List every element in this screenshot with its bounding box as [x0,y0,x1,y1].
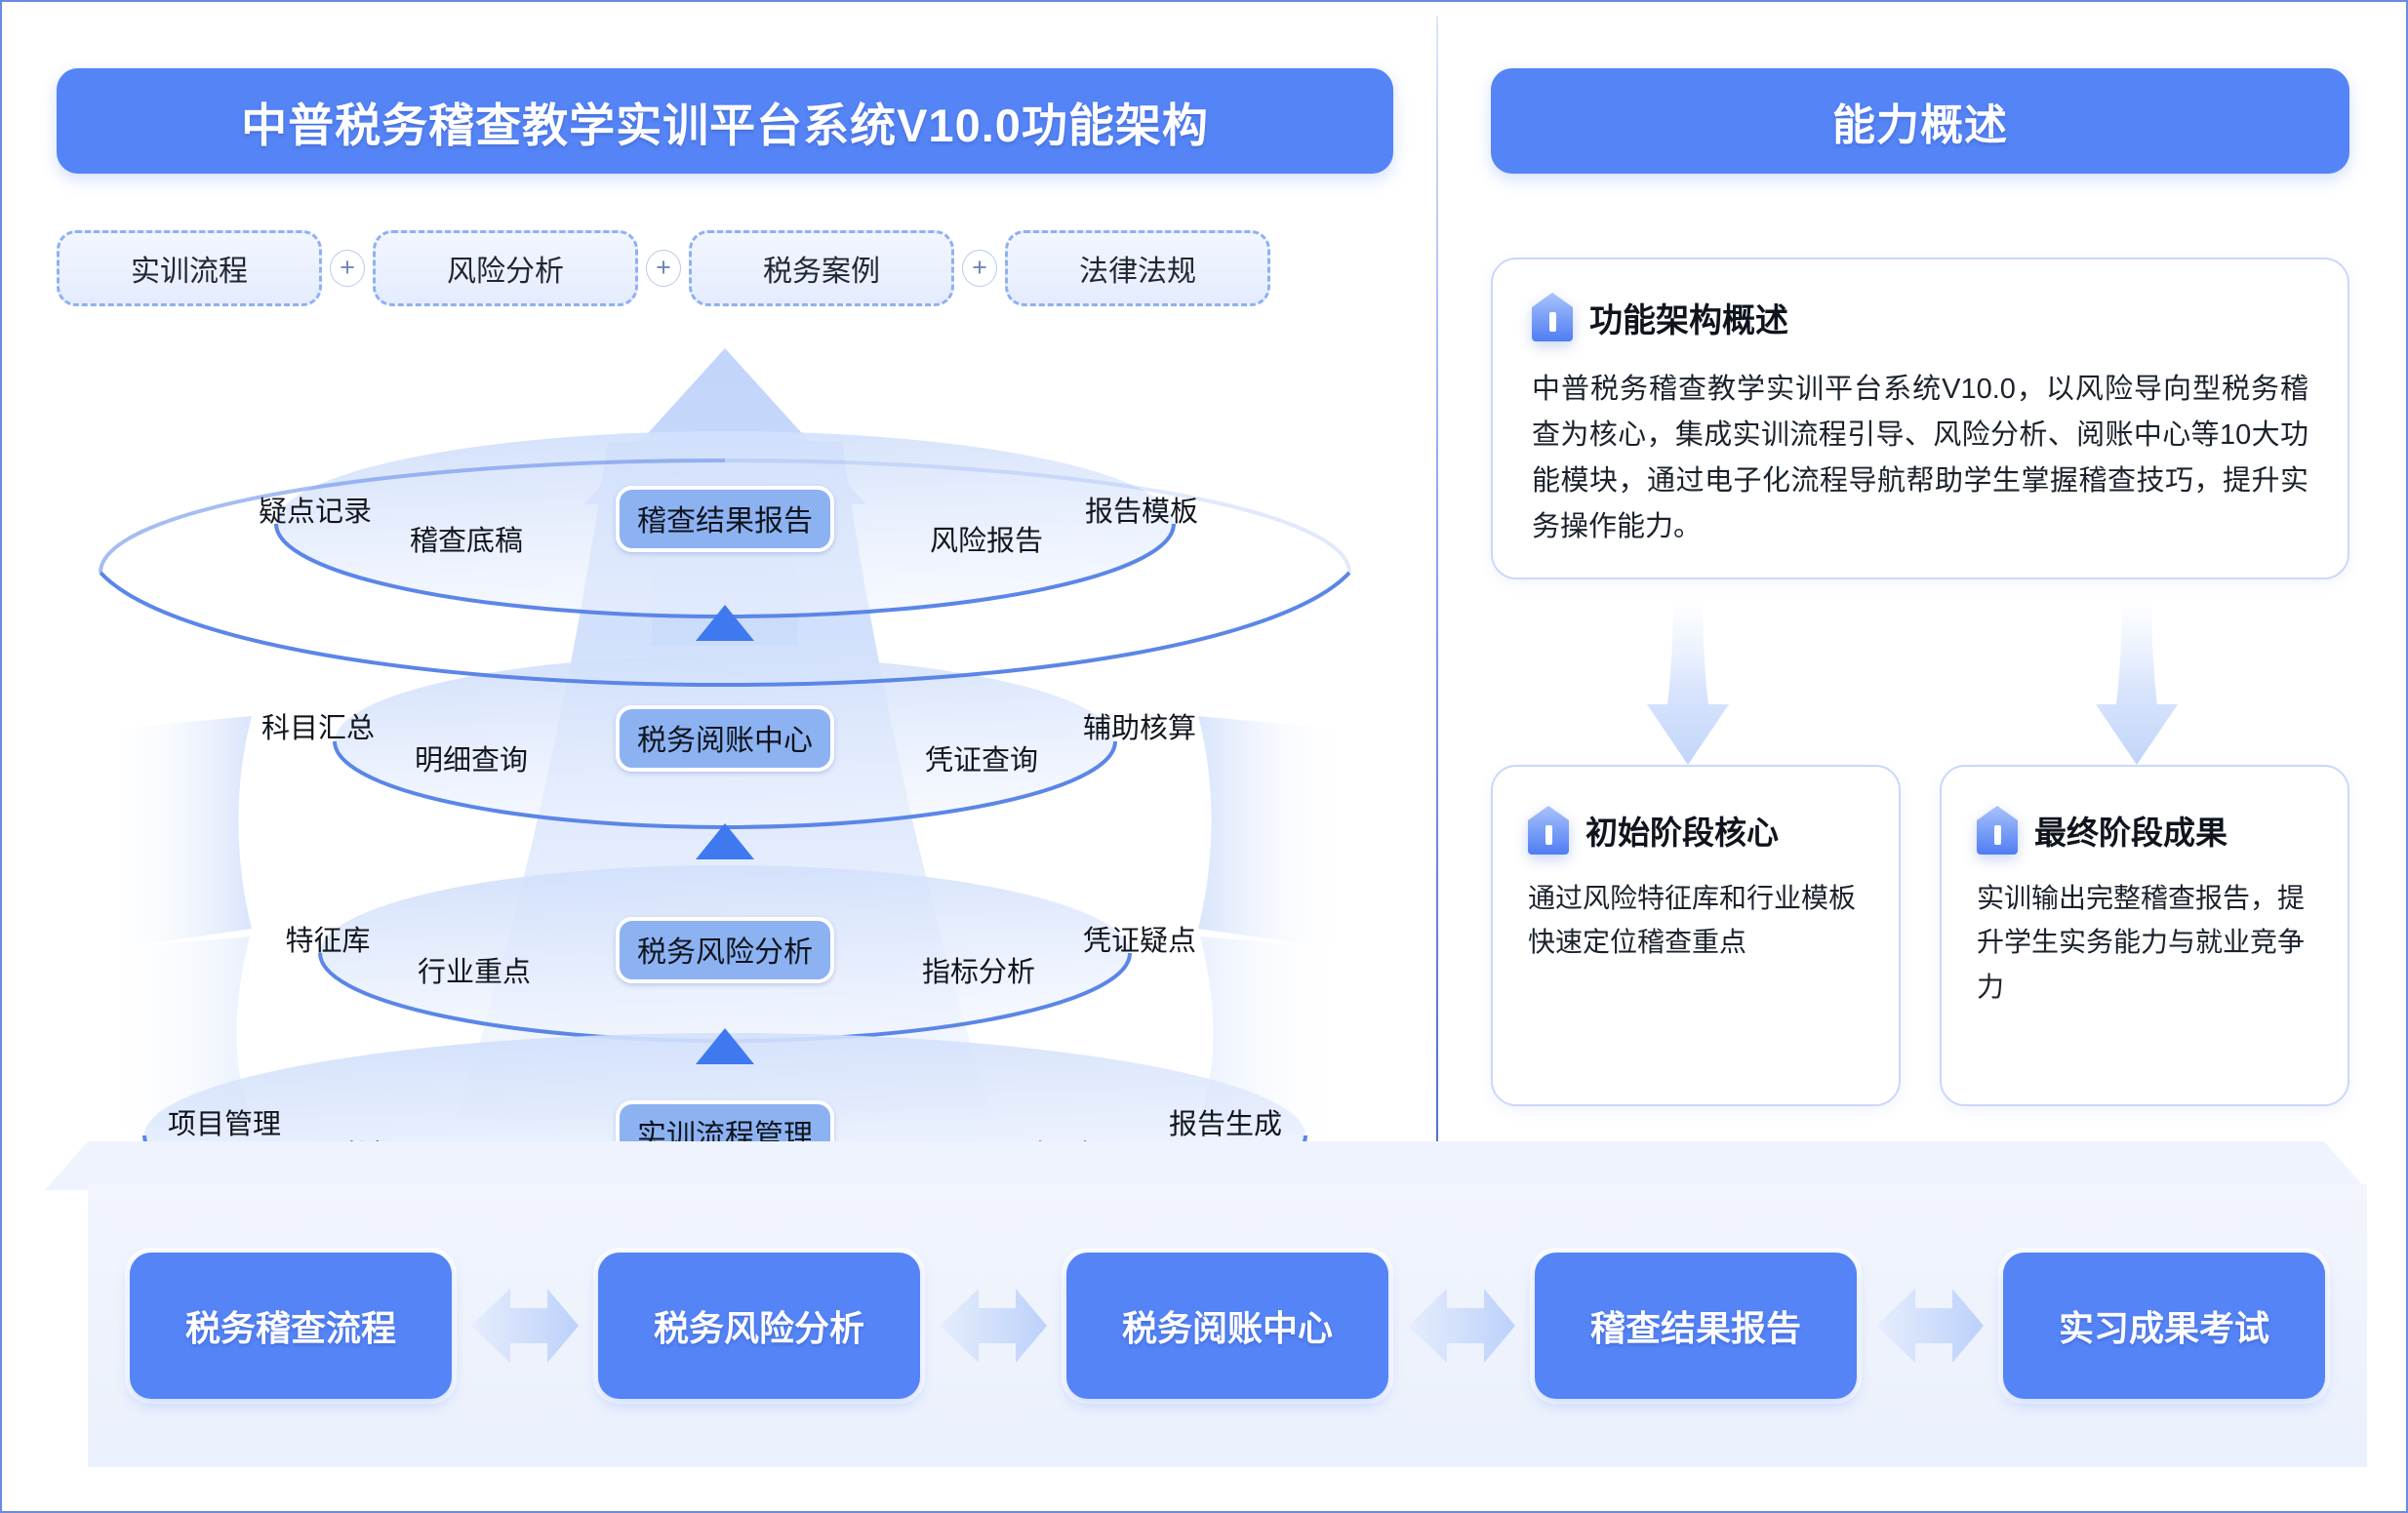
funnel-label-3-left-outer: 项目管理 [168,1101,281,1142]
funnel-core-1[interactable]: 税务阅账中心 [616,705,834,772]
funnel-label-2-left-outer: 特征库 [285,918,370,959]
funnel-label-1-left-inner: 明细查询 [415,737,528,778]
stage-card-1-body: 实训输出完整稽查报告，提升学生实务能力与就业竞争力 [1942,855,2348,1009]
tag-item-1[interactable]: 风险分析 [373,230,638,306]
tag-item-0[interactable]: 实训流程 [57,230,322,306]
tag-row: 实训流程 + 风险分析 + 税务案例 + 法律法规 [57,224,1393,312]
funnel-label-2-right-outer: 凭证疑点 [1083,918,1196,959]
stage-card-0: 初始阶段核心 通过风险特征库和行业模板快速定位稽查重点 [1491,765,1901,1106]
flow-section: 税务稽查流程 税务风险分析 [45,1141,2367,1483]
flow-step-2[interactable]: 税务阅账中心 [1066,1253,1388,1399]
funnel-label-3-right-outer: 报告生成 [1169,1101,1282,1142]
right-panel-title: 能力概述 [1491,68,2349,174]
house-info-icon [1528,806,1569,855]
funnel-label-0-left-outer: 疑点记录 [259,489,372,530]
stage-card-1-title: 最终阶段成果 [2034,807,2227,854]
funnel-label-1-left-outer: 科目汇总 [261,705,375,746]
tag-item-2[interactable]: 税务案例 [689,230,954,306]
plus-separator-0: + [322,230,373,306]
plus-separator-1: + [638,230,689,306]
funnel-label-1-right-outer: 辅助核算 [1083,705,1196,746]
flow-arrow-1 [920,1272,1066,1379]
flow-panel-bevel [45,1141,2367,1190]
funnel-label-2-right-inner: 指标分析 [922,949,1035,990]
funnel-label-2-left-inner: 行业重点 [418,949,531,990]
down-arrow-left [1647,599,1729,765]
overview-card-body: 中普税务稽查教学实训平台系统V10.0，以风险导向型税务稽查为核心，集成实训流程… [1493,341,2348,550]
tag-label: 税务案例 [763,247,880,290]
flow-arrow-3 [1857,1272,2003,1379]
infographic-page: 中普税务稽查教学实训平台系统V10.0功能架构 实训流程 + 风险分析 + 税务… [0,0,2408,1513]
funnel-core-2[interactable]: 税务风险分析 [616,917,834,983]
flow-arrow-0 [452,1272,598,1379]
stage-card-0-body: 通过风险特征库和行业模板快速定位稽查重点 [1493,855,1899,965]
overview-card: 功能架构概述 中普税务稽查教学实训平台系统V10.0，以风险导向型税务稽查为核心… [1491,258,2349,579]
flow-step-label: 实习成果考试 [2059,1300,2269,1351]
plus-glyph: + [330,250,365,287]
flow-step-label: 稽查结果报告 [1590,1300,1801,1351]
panel-divider [1436,16,1438,1147]
tag-label: 风险分析 [447,247,564,290]
house-info-icon [1532,293,1573,341]
house-info-icon [1977,806,2018,855]
funnel-label-0-left-inner: 稽查底稿 [410,518,523,559]
flow-step-4[interactable]: 实习成果考试 [2003,1253,2325,1399]
overview-card-title: 功能架构概述 [1589,294,1788,341]
funnel-diagram: 疑点记录 稽查底稿 稽查结果报告 风险报告 报告模板 科目汇总 明细查询 税务阅… [57,324,1393,1148]
flow-step-0[interactable]: 税务稽查流程 [130,1253,452,1399]
plus-glyph: + [962,250,997,287]
funnel-label-0-right-inner: 风险报告 [930,518,1043,559]
flow-step-label: 税务风险分析 [654,1300,864,1351]
left-panel-title: 中普税务稽查教学实训平台系统V10.0功能架构 [57,68,1393,174]
flow-step-label: 税务稽查流程 [185,1300,396,1351]
stage-card-0-header: 初始阶段核心 [1493,767,1899,855]
flow-arrow-2 [1388,1272,1535,1379]
flow-step-3[interactable]: 稽查结果报告 [1535,1253,1857,1399]
plus-separator-2: + [954,230,1005,306]
funnel-label-0-right-outer: 报告模板 [1085,489,1198,530]
funnel-label-1-right-inner: 凭证查询 [925,737,1038,778]
overview-card-header: 功能架构概述 [1493,259,2348,341]
stage-card-1: 最终阶段成果 实训输出完整稽查报告，提升学生实务能力与就业竞争力 [1940,765,2349,1106]
plus-glyph: + [646,250,681,287]
tag-label: 实训流程 [131,247,248,290]
funnel-core-0[interactable]: 稽查结果报告 [616,486,834,552]
flow-panel: 税务稽查流程 税务风险分析 [88,1184,2367,1467]
flow-step-label: 税务阅账中心 [1122,1300,1333,1351]
down-arrow-right [2096,599,2178,765]
stage-card-1-header: 最终阶段成果 [1942,767,2348,855]
tag-label: 法律法规 [1079,247,1196,290]
tag-item-3[interactable]: 法律法规 [1005,230,1270,306]
flow-step-1[interactable]: 税务风险分析 [598,1253,920,1399]
stage-card-0-title: 初始阶段核心 [1585,807,1779,854]
